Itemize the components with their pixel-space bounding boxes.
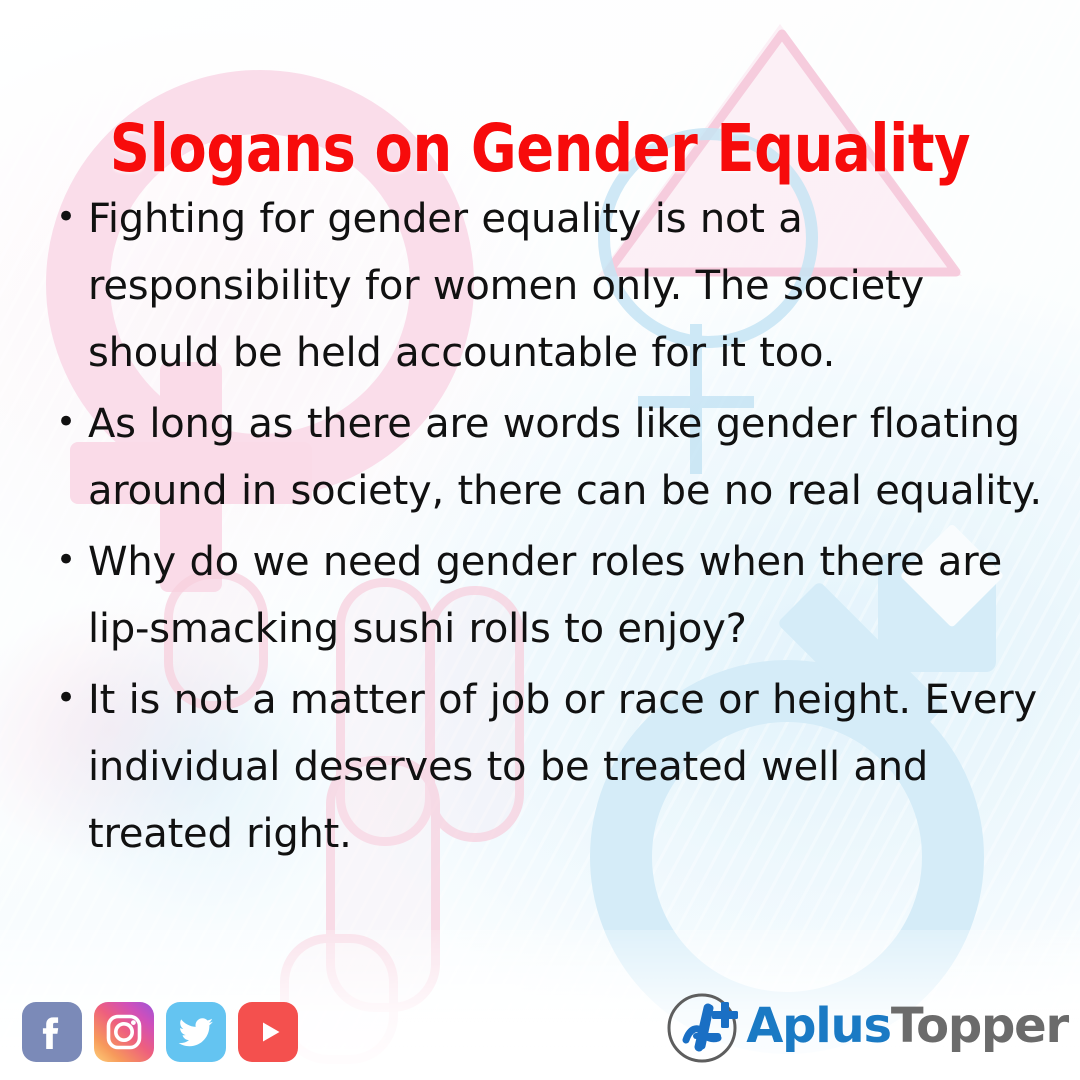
poster-content: Slogans on Gender Equality Fighting for …	[0, 0, 1080, 1080]
list-item: It is not a matter of job or race or hei…	[44, 667, 1046, 868]
slogan-list: Fighting for gender equality is not a re…	[44, 186, 1046, 872]
poster-canvas: Slogans on Gender Equality Fighting for …	[0, 0, 1080, 1080]
page-title: Slogans on Gender Equality	[32, 116, 1047, 182]
facebook-icon[interactable]	[22, 1002, 82, 1062]
list-item: Fighting for gender equality is not a re…	[44, 186, 1046, 387]
logo-word-secondary: Topper	[891, 998, 1068, 1054]
list-item: As long as there are words like gender f…	[44, 391, 1046, 525]
instagram-icon[interactable]	[94, 1002, 154, 1062]
youtube-icon[interactable]	[238, 1002, 298, 1062]
aplustopper-logo-mark-icon	[666, 988, 742, 1064]
social-icon-bar	[22, 1002, 298, 1062]
footer: AplusTopper	[0, 962, 1080, 1080]
list-item: Why do we need gender roles when there a…	[44, 529, 1046, 663]
aplustopper-logo[interactable]: AplusTopper	[666, 988, 1068, 1064]
twitter-icon[interactable]	[166, 1002, 226, 1062]
aplustopper-wordmark: AplusTopper	[746, 1002, 1068, 1050]
logo-word-primary: Aplus	[746, 998, 891, 1054]
